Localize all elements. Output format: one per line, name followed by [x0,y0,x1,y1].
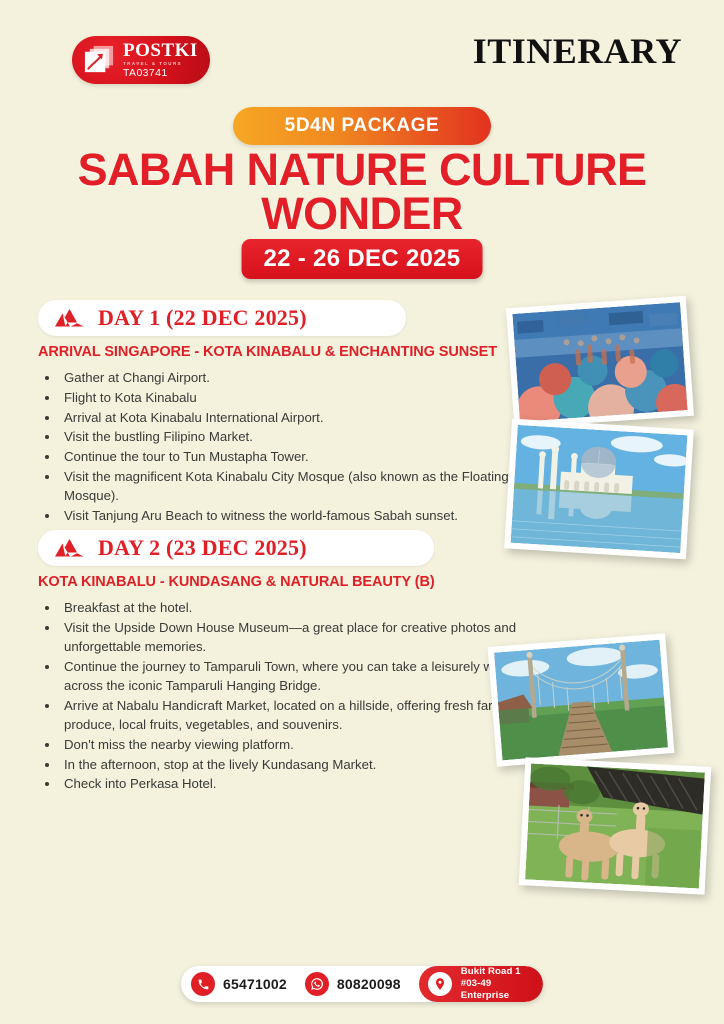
day-2-subtitle: KOTA KINABALU - KUNDASANG & NATURAL BEAU… [38,574,518,590]
whatsapp-number: 80820098 [337,976,401,992]
itinerary-page: POSTKI TRAVEL & TOURS TA03741 ITINERARY … [0,0,724,1024]
day-1-label: DAY 1 (22 DEC 2025) [98,305,307,331]
day-2-header: DAY 2 (23 DEC 2025) [38,530,434,566]
tamparuli-bridge-photo [488,633,675,767]
logo-company-name: POSTKI [123,41,198,60]
list-item: Breakfast at the hotel. [60,598,518,617]
package-title-line-1: SABAH NATURE CULTURE [0,148,724,192]
list-item: Visit the Upside Down House Museum—a gre… [60,618,518,657]
mountain-icon [54,538,84,559]
day-2-label: DAY 2 (23 DEC 2025) [98,535,307,561]
list-item: Check into Perkasa Hotel. [60,774,518,793]
list-item: Continue the journey to Tamparuli Town, … [60,657,518,696]
mountain-icon [54,308,84,329]
filipino-market-photo [506,296,694,428]
list-item: Visit Tanjung Aru Beach to witness the w… [60,506,518,525]
location-pin-icon [428,972,452,996]
list-item: Flight to Kota Kinabalu [60,388,518,407]
office-address: No. 1 Kaki Bukit Road 1 #03-49 Enterpris… [461,966,527,1002]
floating-mosque-photo [504,419,694,560]
address-line-2: Enterprise One S415934 [461,990,522,1002]
alpaca-farm-photo [519,757,711,895]
package-badge: 5D4N PACKAGE [233,107,491,145]
day-2-section: DAY 2 (23 DEC 2025) KOTA KINABALU - KUND… [38,530,518,794]
list-item: In the afternoon, stop at the lively Kun… [60,755,518,774]
day-2-activity-list: Breakfast at the hotel. Visit the Upside… [38,598,518,794]
day-1-header: DAY 1 (22 DEC 2025) [38,300,406,336]
phone-contact[interactable]: 65471002 [191,972,305,996]
address-contact[interactable]: No. 1 Kaki Bukit Road 1 #03-49 Enterpris… [419,966,543,1002]
list-item: Visit the magnificent Kota Kinabalu City… [60,467,518,506]
list-item: Gather at Changi Airport. [60,368,518,387]
list-item: Visit the bustling Filipino Market. [60,427,518,446]
day-1-section: DAY 1 (22 DEC 2025) ARRIVAL SINGAPORE - … [38,300,518,565]
phone-icon [191,972,215,996]
package-title-line-2: WONDER [0,192,724,236]
whatsapp-icon [305,972,329,996]
page-title: ITINERARY [473,30,682,72]
company-logo: POSTKI TRAVEL & TOURS TA03741 [72,36,210,84]
list-item: Continue the tour to Tun Mustapha Tower. [60,447,518,466]
list-item: Arrive at Nabalu Handicraft Market, loca… [60,696,518,735]
list-item: Don't miss the nearby viewing platform. [60,735,518,754]
postki-logo-mark [83,44,116,77]
address-line-1: No. 1 Kaki Bukit Road 1 #03-49 [461,966,521,989]
list-item: Arrival at Kota Kinabalu International A… [60,408,518,427]
contact-footer: 65471002 80820098 No. 1 Kaki Bukit Road … [181,966,543,1002]
phone-number: 65471002 [223,976,287,992]
logo-tagline: TRAVEL & TOURS [123,62,198,66]
whatsapp-contact[interactable]: 80820098 [305,972,419,996]
logo-license-number: TA03741 [123,68,198,79]
package-title: SABAH NATURE CULTURE WONDER [0,148,724,235]
travel-dates-badge: 22 - 26 DEC 2025 [242,239,483,279]
day-1-subtitle: ARRIVAL SINGAPORE - KOTA KINABALU & ENCH… [38,344,518,360]
